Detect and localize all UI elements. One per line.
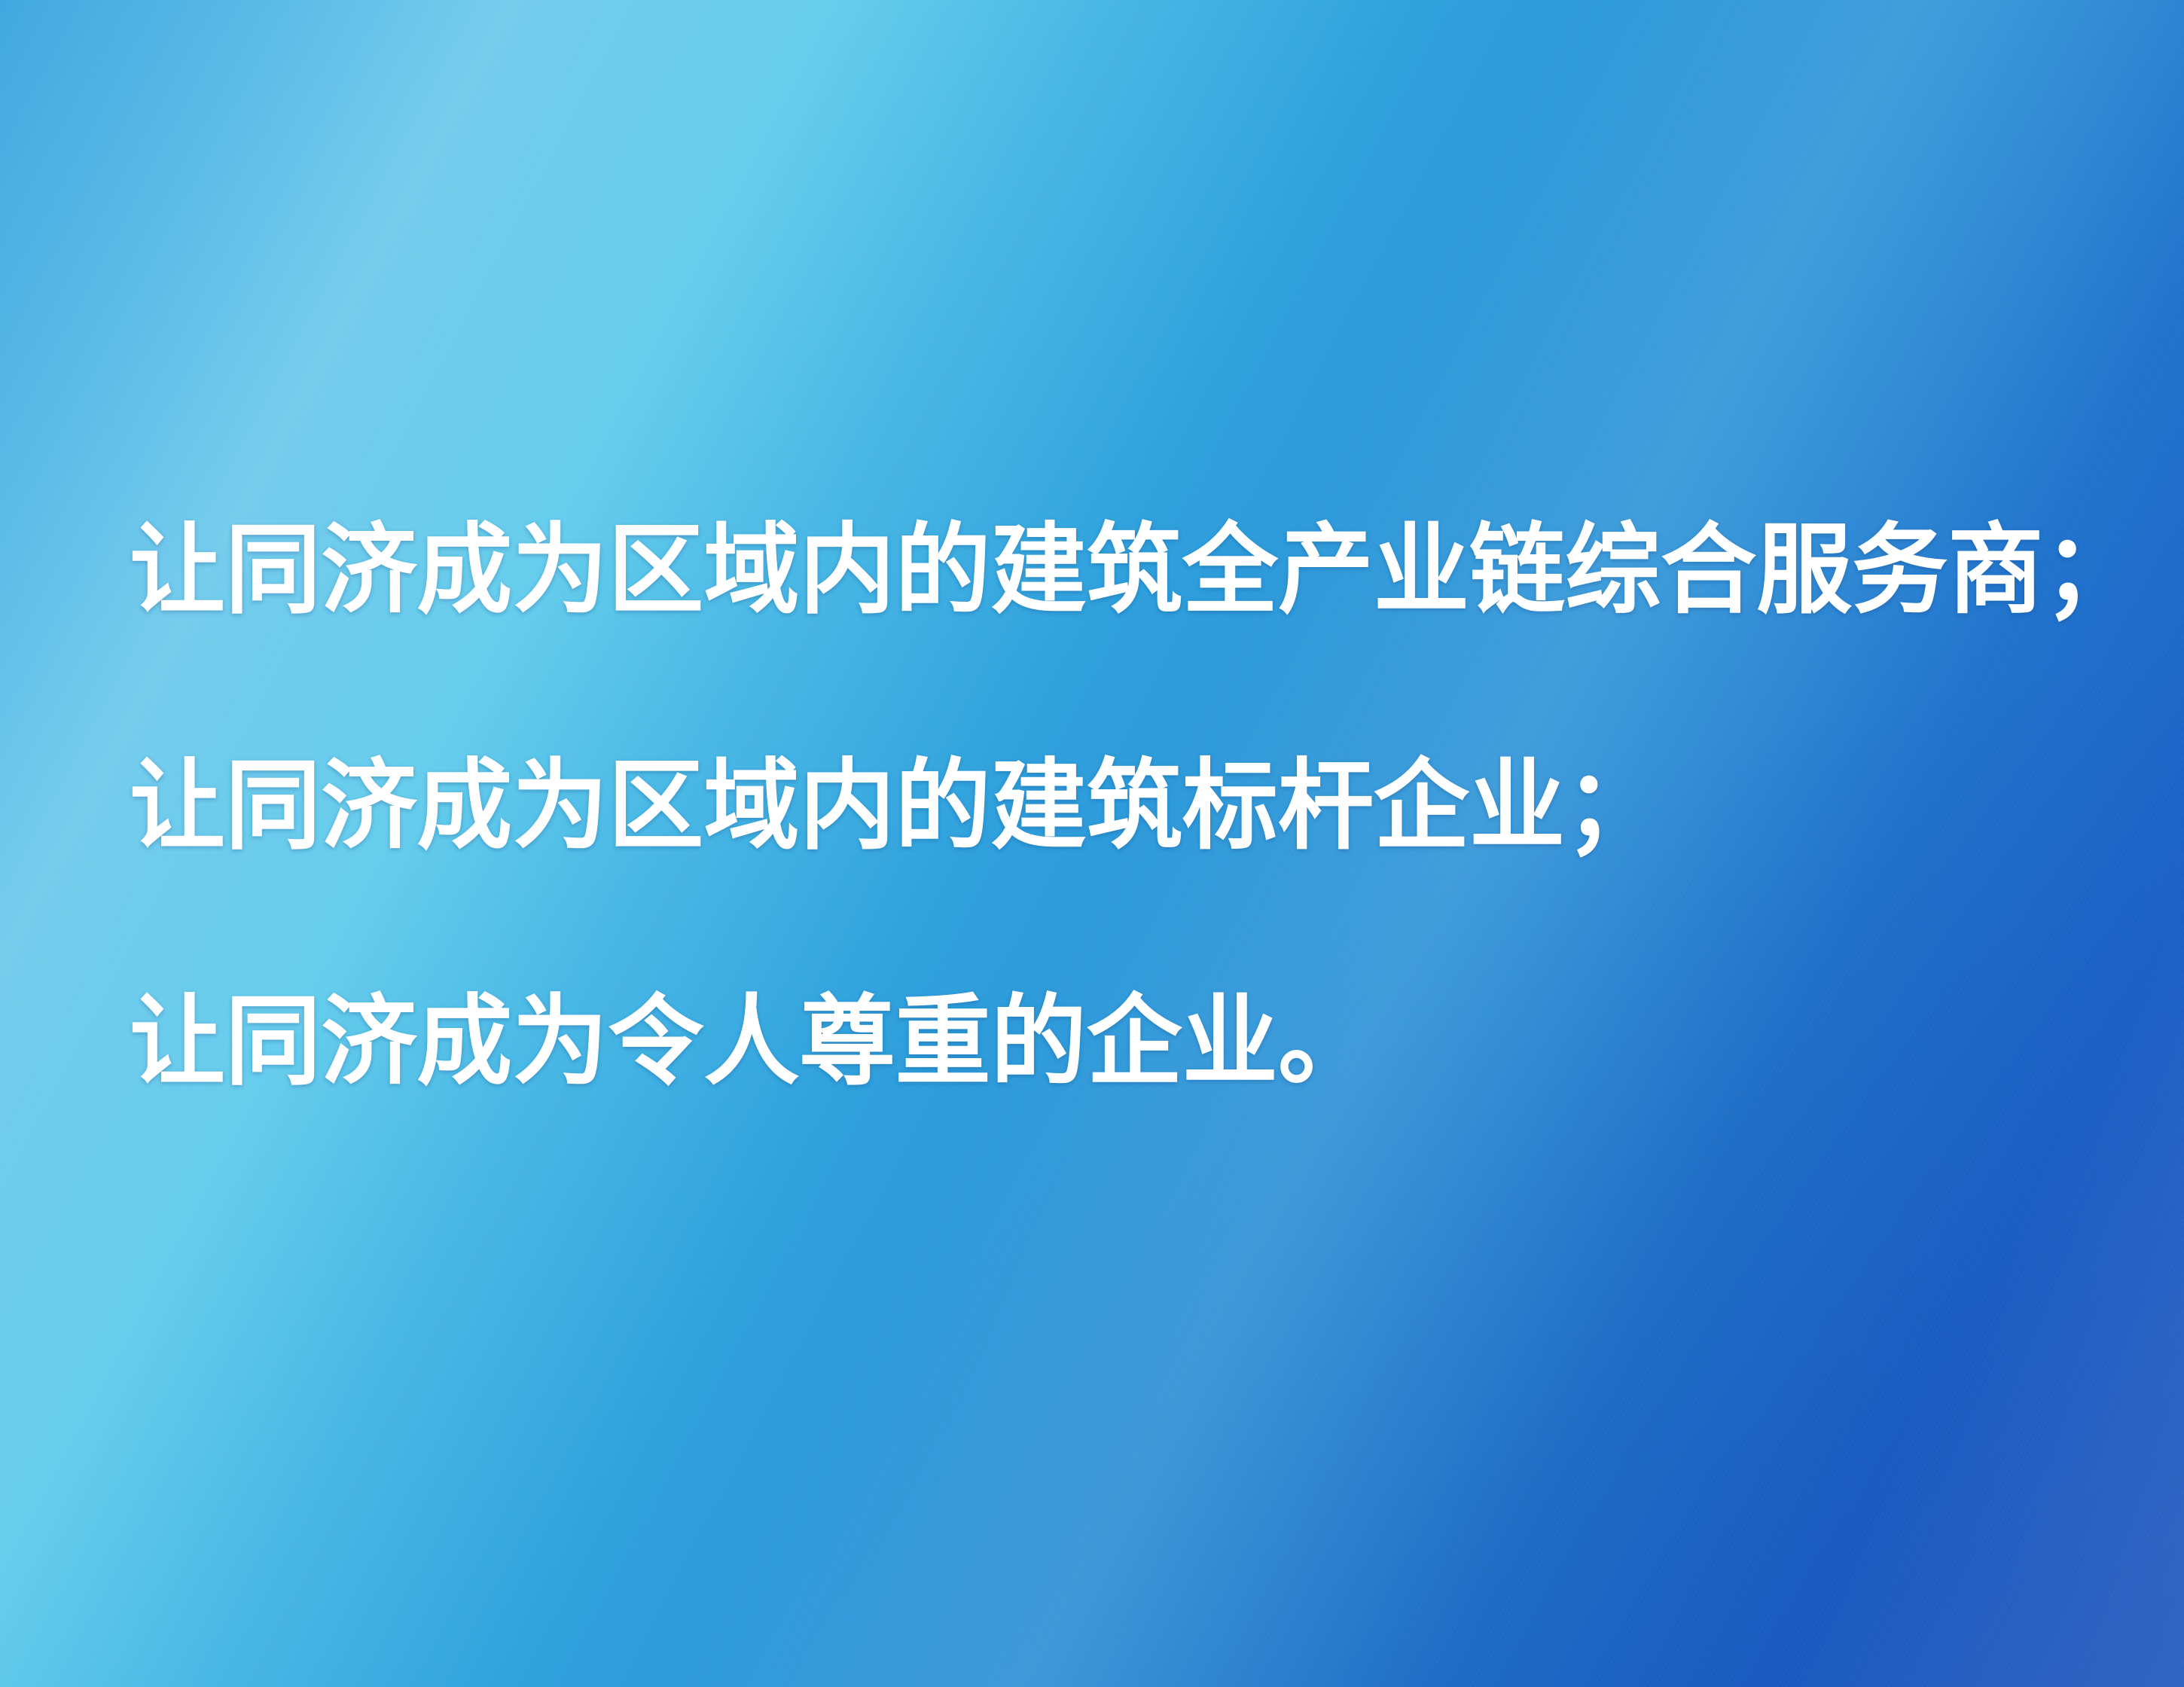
vision-line-3: 让同济成为令人尊重的企业。 bbox=[130, 923, 2029, 1159]
vision-line-1: 让同济成为区域内的建筑全产业链综合服务商； bbox=[130, 452, 2029, 688]
vision-line-2: 让同济成为区域内的建筑标杆企业； bbox=[130, 688, 2029, 923]
presentation-slide: 让同济成为区域内的建筑全产业链综合服务商； 让同济成为区域内的建筑标杆企业； 让… bbox=[0, 0, 2184, 1687]
vision-statement-block: 让同济成为区域内的建筑全产业链综合服务商； 让同济成为区域内的建筑标杆企业； 让… bbox=[130, 452, 2088, 1159]
